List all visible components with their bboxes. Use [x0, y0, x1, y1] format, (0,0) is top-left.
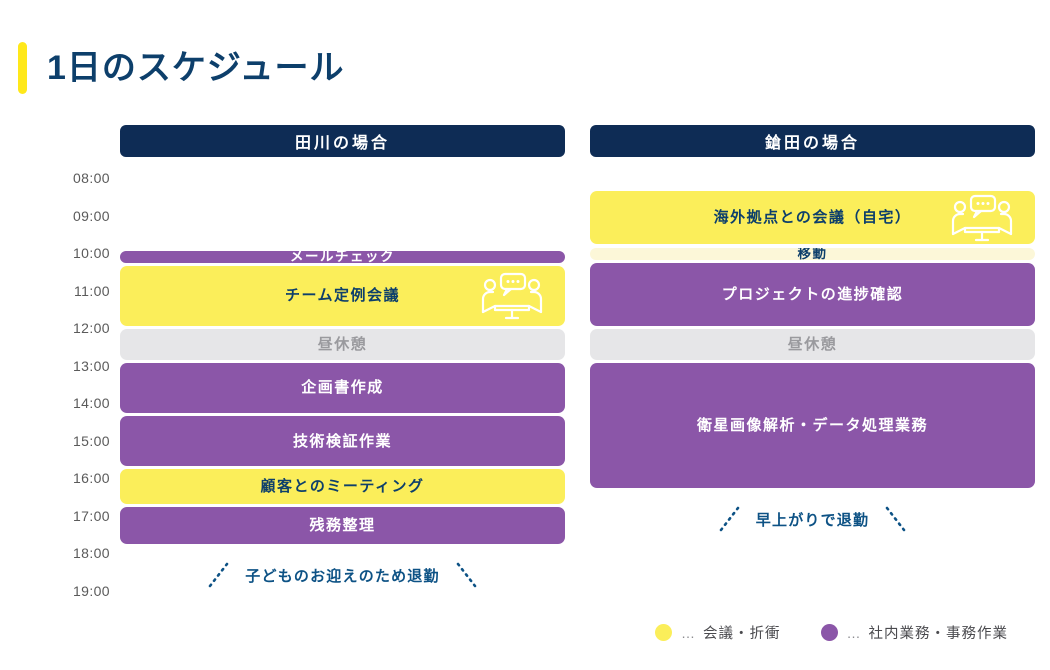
time-label: 10:00: [38, 245, 110, 261]
legend-item: …社内業務・事務作業: [821, 622, 1009, 643]
leave-note-right-text: 早上がりで退勤: [744, 509, 881, 530]
schedule-block[interactable]: 昼休憩: [590, 329, 1035, 360]
internal-dot-icon: [821, 624, 838, 641]
schedule-block-label: 昼休憩: [318, 335, 368, 355]
leave-note-left: 子どものお迎えのため退勤: [120, 562, 565, 588]
schedule-block-label: プロジェクトの進捗確認: [722, 285, 904, 305]
schedule-block[interactable]: プロジェクトの進捗確認: [590, 263, 1035, 326]
time-label: 08:00: [38, 170, 110, 186]
time-label: 16:00: [38, 470, 110, 486]
schedule-block[interactable]: 海外拠点との会議（自宅）: [590, 191, 1035, 244]
legend-label: 会議・折衝: [703, 622, 781, 643]
legend: …会議・折衝…社内業務・事務作業: [655, 622, 1008, 643]
dotted-dash-left-icon: [207, 562, 233, 588]
schedule-block-label: 衛星画像解析・データ処理業務: [697, 416, 928, 436]
schedule-block[interactable]: チーム定例会議: [120, 266, 565, 325]
column-header-left: 田川の場合: [120, 125, 565, 157]
page-title-text: 1日のスケジュール: [47, 51, 345, 85]
legend-item: …会議・折衝: [655, 622, 781, 643]
schedule-column-right: 鎗田の場合 海外拠点との会議（自宅）移動プロジェクトの進捗確認昼休憩衛星画像解析…: [590, 125, 1035, 617]
schedule-column-left: 田川の場合 メールチェックチーム定例会議昼休憩企画書作成技術検証作業顧客とのミー…: [120, 125, 565, 617]
schedule-block[interactable]: 昼休憩: [120, 329, 565, 360]
meeting-dot-icon: [655, 624, 672, 641]
schedule-block-label: 企画書作成: [301, 378, 384, 398]
schedule-block-label: チーム定例会議: [285, 286, 400, 306]
legend-ellipsis: …: [847, 625, 862, 641]
dotted-dash-left-icon: [718, 506, 744, 532]
schedule-block[interactable]: 顧客とのミーティング: [120, 469, 565, 503]
schedule-diagram: 1日のスケジュール 08:0009:0010:0011:0012:0013:00…: [0, 0, 1050, 670]
schedule-block-label: 技術検証作業: [293, 432, 392, 452]
time-label: 19:00: [38, 583, 110, 599]
time-label: 14:00: [38, 395, 110, 411]
column-track-right: 海外拠点との会議（自宅）移動プロジェクトの進捗確認昼休憩衛星画像解析・データ処理…: [590, 167, 1035, 617]
schedule-block-label: 残務整理: [309, 516, 375, 536]
legend-label: 社内業務・事務作業: [869, 622, 1009, 643]
column-track-left: メールチェックチーム定例会議昼休憩企画書作成技術検証作業顧客とのミーティング残務…: [120, 167, 565, 617]
schedule-block[interactable]: 企画書作成: [120, 363, 565, 413]
time-axis: 08:0009:0010:0011:0012:0013:0014:0015:00…: [38, 160, 110, 610]
schedule-block-label: 顧客とのミーティング: [261, 477, 425, 497]
leave-note-left-text: 子どものお迎えのため退勤: [233, 565, 451, 586]
time-label: 18:00: [38, 545, 110, 561]
schedule-block[interactable]: 移動: [590, 248, 1035, 261]
legend-ellipsis: …: [681, 625, 696, 641]
column-header-right: 鎗田の場合: [590, 125, 1035, 157]
schedule-block-label: 海外拠点との会議（自宅）: [714, 208, 912, 228]
schedule-block-label: 移動: [798, 248, 828, 261]
schedule-block[interactable]: メールチェック: [120, 251, 565, 264]
time-label: 13:00: [38, 358, 110, 374]
schedule-block-label: 昼休憩: [788, 335, 838, 355]
meeting-icon: [951, 194, 1013, 242]
schedule-block[interactable]: 衛星画像解析・データ処理業務: [590, 363, 1035, 488]
time-label: 15:00: [38, 433, 110, 449]
schedule-block[interactable]: 技術検証作業: [120, 416, 565, 466]
time-label: 12:00: [38, 320, 110, 336]
schedule-block[interactable]: 残務整理: [120, 507, 565, 545]
title-accent-bar: [18, 42, 27, 94]
meeting-icon: [481, 272, 543, 320]
page-title: 1日のスケジュール: [18, 42, 345, 94]
time-label: 17:00: [38, 508, 110, 524]
leave-note-right: 早上がりで退勤: [590, 506, 1035, 532]
dotted-dash-right-icon: [452, 562, 478, 588]
dotted-dash-right-icon: [881, 506, 907, 532]
time-label: 11:00: [38, 283, 110, 299]
schedule-block-label: メールチェック: [290, 251, 395, 264]
time-label: 09:00: [38, 208, 110, 224]
